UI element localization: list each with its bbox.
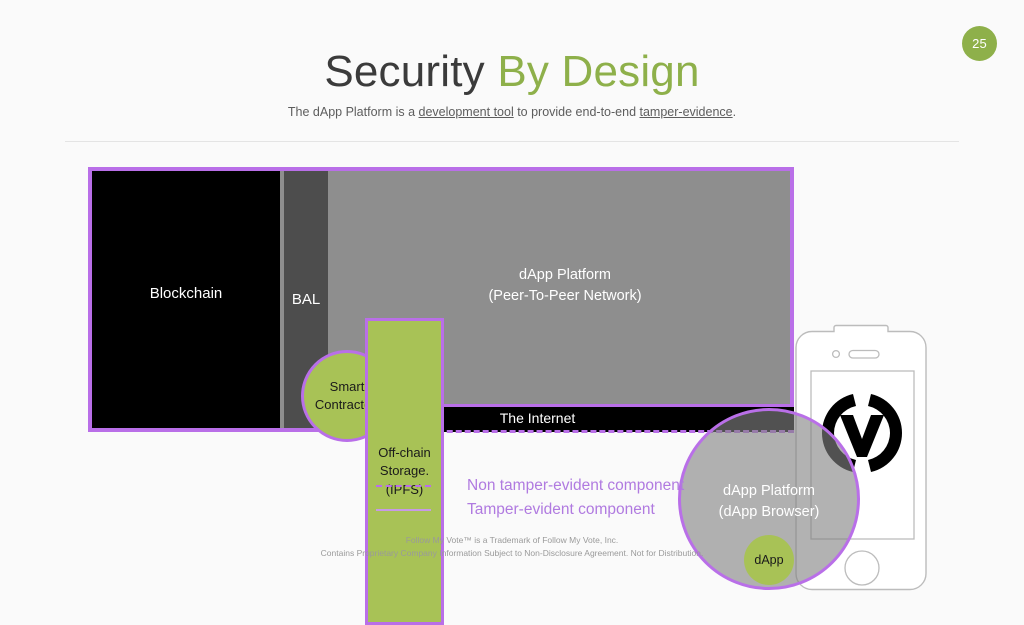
architecture-diagram: dApp Platform (Peer-To-Peer Network) Blo… xyxy=(0,160,1024,480)
footer: Follow My Vote™ is a Trademark of Follow… xyxy=(0,534,1024,560)
subtitle-link-development-tool[interactable]: development tool xyxy=(419,105,514,119)
blockchain-label: Blockchain xyxy=(92,285,280,302)
footer-confidentiality-line: Contains Proprietary Company Information… xyxy=(0,547,1024,560)
page-subtitle: The dApp Platform is a development tool … xyxy=(0,105,1024,119)
dapp-platform-label-line1: dApp Platform xyxy=(400,265,730,286)
page-title: Security By Design xyxy=(0,48,1024,96)
legend-solid-line-icon xyxy=(376,509,431,511)
legend-item-non-tamper-evident: Non tamper-evident component xyxy=(376,474,684,498)
legend-item-tamper-evident: Tamper-evident component xyxy=(376,498,655,522)
subtitle-text-middle: to provide end-to-end xyxy=(514,105,640,119)
page-title-part-two: By Design xyxy=(497,47,699,96)
bal-label: BAL xyxy=(284,291,328,308)
header-divider xyxy=(65,141,959,142)
page-title-part-one: Security xyxy=(324,47,497,96)
legend: Non tamper-evident component Tamper-evid… xyxy=(0,470,1024,530)
legend-label-non-tamper-evident: Non tamper-evident component xyxy=(467,477,684,495)
footer-trademark-line: Follow My Vote™ is a Trademark of Follow… xyxy=(0,534,1024,547)
slide-root: 25 Security By Design The dApp Platform … xyxy=(0,0,1024,576)
subtitle-text-lead: The dApp Platform is a xyxy=(288,105,419,119)
dapp-platform-label-line2: (Peer-To-Peer Network) xyxy=(400,286,730,307)
subtitle-text-end: . xyxy=(733,105,736,119)
legend-dashed-line-icon xyxy=(376,485,431,487)
legend-label-tamper-evident: Tamper-evident component xyxy=(467,501,655,519)
subtitle-link-tamper-evidence[interactable]: tamper-evidence xyxy=(640,105,733,119)
offchain-storage-label-line1: Off-chain xyxy=(378,444,431,462)
dapp-platform-label: dApp Platform (Peer-To-Peer Network) xyxy=(400,265,730,307)
